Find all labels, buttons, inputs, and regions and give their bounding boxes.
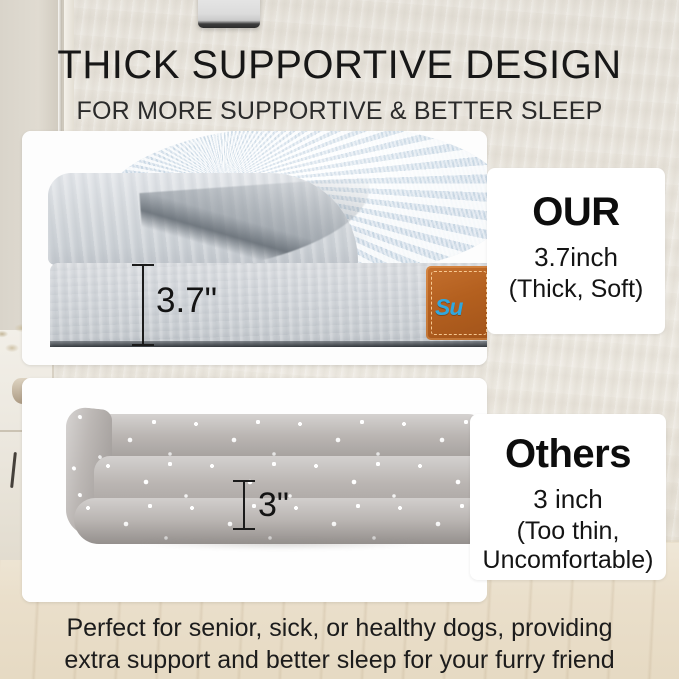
footer-caption: Perfect for senior, sick, or healthy dog…: [0, 612, 679, 676]
infographic-root: THICK SUPPORTIVE DESIGN FOR MORE SUPPORT…: [0, 0, 679, 679]
footer-line-2: extra support and better sleep for your …: [0, 644, 679, 676]
dimension-line-others: [243, 480, 245, 530]
info-heading-others: Others: [470, 434, 666, 474]
info-thickness-our: 3.7inch: [487, 242, 665, 273]
our-product-scene: Su 3.7": [22, 131, 487, 365]
dimension-label-others: 3": [258, 488, 289, 522]
page-subtitle: FOR MORE SUPPORTIVE & BETTER SLEEP: [0, 97, 679, 126]
info-note-others-line1: (Too thin,: [470, 517, 666, 546]
base-bottom-shadow: [50, 341, 487, 347]
dimension-line-our: [142, 264, 144, 346]
brand-tag-label: Su: [435, 294, 462, 321]
ground-shadow: [76, 540, 487, 556]
page-title: THICK SUPPORTIVE DESIGN: [0, 43, 679, 88]
info-panel-others: Others 3 inch (Too thin, Uncomfortable): [470, 414, 666, 580]
product-photo-others: 3": [22, 378, 487, 602]
info-note-others-line2: Uncomfortable): [470, 546, 666, 575]
others-product-scene: 3": [22, 378, 487, 602]
brand-leather-tag: Su: [426, 266, 487, 340]
foam-texture: [50, 263, 487, 347]
info-heading-our: OUR: [487, 192, 665, 232]
product-photo-our: Su 3.7": [22, 131, 487, 365]
info-note-our: (Thick, Soft): [487, 275, 665, 304]
dimension-cap-bottom-others: [233, 528, 255, 530]
foam-base-slab: [50, 263, 487, 347]
info-note-others: (Too thin, Uncomfortable): [470, 517, 666, 575]
dimension-label-our: 3.7": [156, 283, 217, 318]
dimension-cap-bottom-our: [132, 344, 154, 346]
footer-line-1: Perfect for senior, sick, or healthy dog…: [0, 612, 679, 644]
info-panel-our: OUR 3.7inch (Thick, Soft): [487, 168, 665, 334]
info-thickness-others: 3 inch: [470, 484, 666, 515]
air-conditioner-unit: [198, 0, 260, 28]
